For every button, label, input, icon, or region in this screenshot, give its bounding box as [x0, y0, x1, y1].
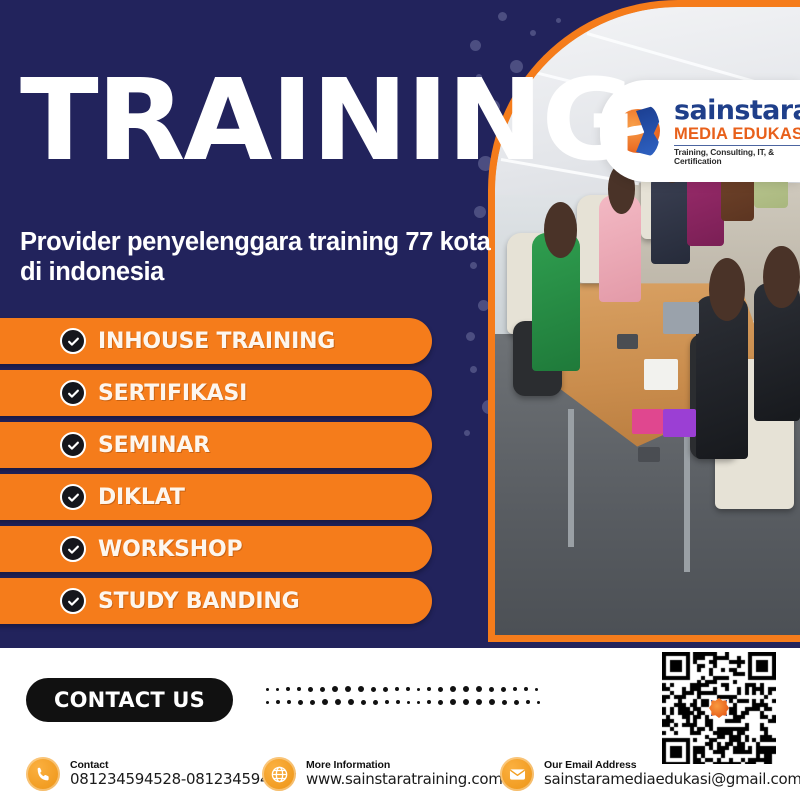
service-label: INHOUSE TRAINING: [98, 329, 335, 354]
photo-paper: [644, 359, 678, 390]
decorative-dot: [407, 701, 410, 704]
contact-us-button[interactable]: CONTACT US: [26, 678, 233, 722]
photo-laptop: [663, 302, 700, 333]
services-list: INHOUSE TRAININGSERTIFIKASISEMINARDIKLAT…: [0, 318, 432, 630]
decorative-dot: [489, 687, 494, 692]
photo-folder: [663, 409, 697, 437]
contact-value: www.sainstaratraining.com: [306, 771, 503, 788]
decorative-dot: [514, 700, 519, 705]
contact-strip: Contact081234594528-081234594527More Inf…: [0, 748, 800, 800]
decorative-dot: [513, 687, 517, 691]
decorative-dot: [332, 686, 338, 692]
promotional-poster: sainstara MEDIA EDUKASI Training, Consul…: [0, 0, 800, 800]
decorative-dot: [266, 688, 269, 691]
decorative-dot: [308, 687, 313, 692]
decorative-dot: [501, 687, 506, 692]
photo-person-head: [709, 258, 746, 321]
contact-item[interactable]: Contact081234594528-081234594527: [26, 757, 297, 791]
decorative-dot: [297, 687, 301, 691]
decorative-dot: [287, 700, 291, 704]
decorative-dot: [276, 688, 279, 691]
hero-panel: sainstara MEDIA EDUKASI Training, Consul…: [0, 0, 800, 648]
photo-phone: [617, 334, 638, 350]
decorative-dot: [396, 700, 400, 704]
decorative-dot: [266, 701, 269, 704]
decorative-dot: [361, 700, 366, 705]
decorative-dot: [417, 688, 420, 691]
page-subtitle: Provider penyelenggara training 77 kota …: [20, 228, 500, 287]
service-pill[interactable]: WORKSHOP: [0, 526, 432, 572]
decorative-dot: [406, 687, 410, 691]
globe-icon: [262, 757, 296, 791]
decorative-dot: [476, 699, 482, 705]
decorative-dot: [395, 687, 399, 691]
logo-divider: [674, 145, 800, 146]
decorative-dot: [310, 700, 315, 705]
decorative-dot: [524, 687, 528, 691]
decorative-dot: [535, 688, 538, 691]
photo-table-leg: [684, 421, 690, 572]
decorative-dot: [470, 40, 481, 51]
decorative-dot: [286, 687, 290, 691]
decorative-dot: [385, 700, 389, 704]
decorative-dot: [358, 686, 364, 692]
decorative-dot: [335, 699, 341, 705]
service-pill[interactable]: INHOUSE TRAINING: [0, 318, 432, 364]
photo-table-leg: [568, 409, 574, 547]
phone-icon: [26, 757, 60, 791]
logo-tagline: Training, Consulting, IT, & Certificatio…: [674, 148, 800, 165]
check-circle-icon: [60, 484, 86, 510]
decorative-dot: [502, 700, 507, 705]
decorative-dot: [427, 700, 431, 704]
decorative-dot: [537, 701, 540, 704]
photo-phone: [638, 447, 659, 463]
service-label: DIKLAT: [98, 485, 185, 510]
decorative-dot: [450, 699, 456, 705]
decorative-dot: [438, 687, 443, 692]
qr-center-logo-icon: [709, 698, 729, 718]
decorative-dot: [474, 206, 486, 218]
service-pill[interactable]: STUDY BANDING: [0, 578, 432, 624]
decorative-dot: [489, 699, 495, 705]
decorative-dot: [348, 699, 354, 705]
service-label: STUDY BANDING: [98, 589, 300, 614]
decorative-dot-row: [266, 686, 547, 692]
decorative-dot: [438, 700, 443, 705]
page-title: TRAINING: [20, 72, 634, 171]
check-circle-icon: [60, 328, 86, 354]
service-pill[interactable]: SERTIFIKASI: [0, 370, 432, 416]
decorative-dot: [466, 332, 475, 341]
service-label: SERTIFIKASI: [98, 381, 247, 406]
decorative-dot: [371, 687, 376, 692]
decorative-dot: [373, 700, 378, 705]
decorative-dot: [526, 700, 530, 704]
service-label: WORKSHOP: [98, 537, 242, 562]
decorative-dot: [322, 699, 328, 705]
service-pill[interactable]: SEMINAR: [0, 422, 432, 468]
photo-person: [651, 170, 691, 264]
check-circle-icon: [60, 380, 86, 406]
decorative-dot: [417, 701, 420, 704]
check-circle-icon: [60, 536, 86, 562]
decorative-dot: [463, 699, 469, 705]
decorative-dot: [276, 700, 280, 704]
contact-value: sainstaramediaedukasi@gmail.com: [544, 771, 800, 788]
decorative-dot: [427, 687, 431, 691]
decorative-dot-row: [266, 699, 547, 705]
photo-folder: [632, 409, 663, 434]
contact-item[interactable]: More Informationwww.sainstaratraining.co…: [262, 757, 503, 791]
decorative-dot: [320, 687, 325, 692]
decorative-dot: [470, 366, 477, 373]
logo-brand-name: sainstara: [674, 97, 800, 124]
decorative-dot: [476, 686, 482, 692]
photo-person: [696, 296, 748, 459]
service-pill[interactable]: DIKLAT: [0, 474, 432, 520]
decorative-dot: [450, 686, 456, 692]
service-label: SEMINAR: [98, 433, 210, 458]
decorative-dot: [383, 687, 388, 692]
contact-item[interactable]: Our Email Addresssainstaramediaedukasi@g…: [500, 757, 800, 791]
decorative-dot-rows: [266, 686, 547, 712]
logo-brand-sub: MEDIA EDUKASI: [674, 126, 800, 143]
decorative-dot: [464, 430, 470, 436]
decorative-dot: [298, 700, 303, 705]
photo-person-head: [763, 246, 800, 309]
check-circle-icon: [60, 588, 86, 614]
envelope-icon: [500, 757, 534, 791]
decorative-dot: [463, 686, 469, 692]
check-circle-icon: [60, 432, 86, 458]
decorative-dot: [345, 686, 351, 692]
